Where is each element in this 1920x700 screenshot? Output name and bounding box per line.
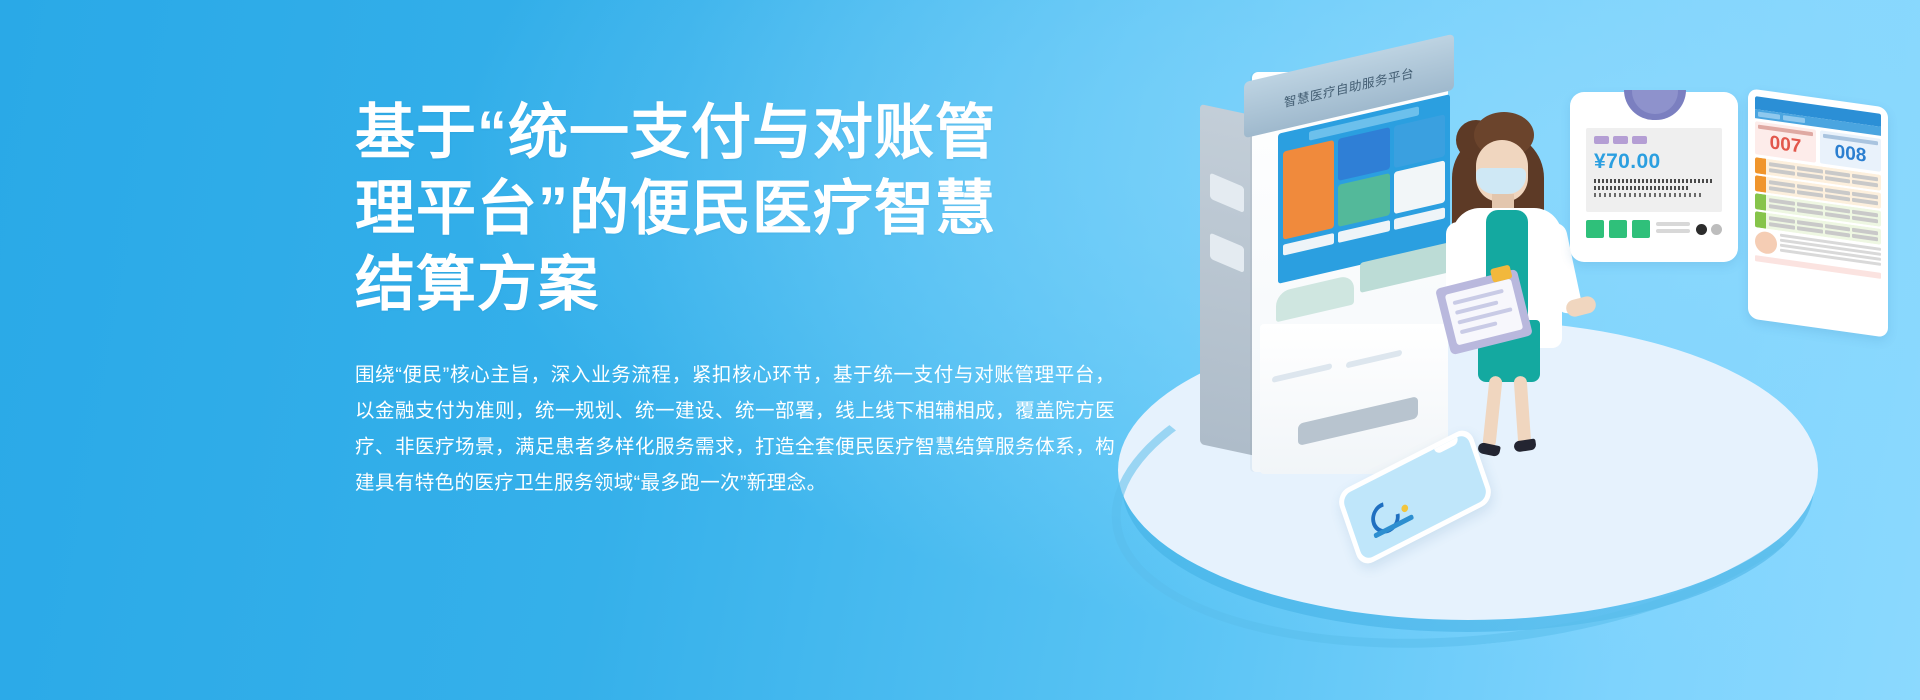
printer-button-light[interactable] bbox=[1711, 224, 1722, 235]
doctor-leg-right bbox=[1514, 376, 1532, 449]
receipt-chip-2 bbox=[1613, 136, 1628, 144]
hero-banner: 基于“统一支付与对账管 理平台”的便民医疗智慧 结算方案 围绕“便民”核心主旨，… bbox=[0, 0, 1920, 700]
status-light-3 bbox=[1632, 220, 1650, 238]
queue-number-display: 007 008 bbox=[1748, 88, 1888, 338]
receipt-barcode-2 bbox=[1594, 186, 1688, 190]
status-light-1 bbox=[1586, 220, 1604, 238]
printer-control-panel bbox=[1586, 220, 1722, 238]
board-tab-2 bbox=[1783, 115, 1805, 123]
tile-payment bbox=[1338, 173, 1389, 227]
printer-label-lines bbox=[1656, 222, 1690, 236]
status-light-2 bbox=[1609, 220, 1627, 238]
kiosk-slot-receipt bbox=[1346, 350, 1402, 369]
illustration-stage: 智慧医疗自助服务平台 bbox=[1100, 20, 1920, 680]
receipt-chip-3 bbox=[1632, 136, 1647, 144]
clipboard-paper bbox=[1445, 279, 1524, 346]
clipboard-line-4 bbox=[1460, 321, 1498, 334]
payment-receipt-printer: ¥70.00 bbox=[1570, 92, 1738, 262]
board-row-2-tag bbox=[1755, 175, 1766, 193]
printed-receipt: ¥70.00 bbox=[1586, 128, 1722, 212]
kiosk-slot-card bbox=[1272, 363, 1332, 383]
tile-account bbox=[1338, 127, 1389, 181]
printer-status-lights bbox=[1586, 220, 1650, 238]
kiosk-side-button-2 bbox=[1210, 233, 1244, 273]
doctor-face-mask bbox=[1476, 168, 1526, 194]
board-current-card: 007 bbox=[1755, 121, 1816, 163]
printer-button-dark[interactable] bbox=[1696, 224, 1707, 235]
receipt-barcode-1 bbox=[1594, 179, 1714, 183]
board-row-1-tag bbox=[1755, 157, 1766, 175]
board-doctor-avatar bbox=[1755, 230, 1777, 255]
board-schedule-rows bbox=[1755, 157, 1881, 245]
printer-buttons bbox=[1696, 224, 1722, 235]
printer-label-line-1 bbox=[1656, 222, 1690, 226]
doctor-leg-left bbox=[1482, 376, 1502, 449]
kiosk-side-panel bbox=[1200, 104, 1256, 456]
hero-description: 围绕“便民”核心主旨，深入业务流程，紧扣核心环节，基于统一支付与对账管理平台，以… bbox=[355, 357, 1115, 501]
printer-label-line-2 bbox=[1656, 229, 1690, 233]
tile-registration bbox=[1283, 140, 1334, 240]
receipt-barcode-3 bbox=[1594, 193, 1704, 197]
hero-copy-block: 基于“统一支付与对账管 理平台”的便民医疗智慧 结算方案 围绕“便民”核心主旨，… bbox=[355, 95, 1115, 501]
phone-app-logo-icon bbox=[1367, 492, 1413, 539]
logo-dot-icon bbox=[1400, 503, 1409, 513]
kiosk-banner-text: 智慧医疗自助服务平台 bbox=[1284, 61, 1414, 110]
receipt-header-chips bbox=[1594, 136, 1714, 144]
printer-cap bbox=[1624, 90, 1686, 120]
receipt-chip-1 bbox=[1594, 136, 1609, 144]
kiosk-slot-cash bbox=[1298, 396, 1418, 446]
board-next-card: 008 bbox=[1820, 130, 1881, 172]
board-tab-1 bbox=[1758, 112, 1780, 120]
board-row-4-tag bbox=[1755, 211, 1766, 229]
kiosk-tray-left bbox=[1276, 274, 1354, 322]
board-row-3-tag bbox=[1755, 193, 1766, 211]
receipt-amount: ¥70.00 bbox=[1594, 150, 1714, 174]
page-title: 基于“统一支付与对账管 理平台”的便民医疗智慧 结算方案 bbox=[355, 95, 1115, 323]
kiosk-side-button-1 bbox=[1210, 173, 1244, 213]
